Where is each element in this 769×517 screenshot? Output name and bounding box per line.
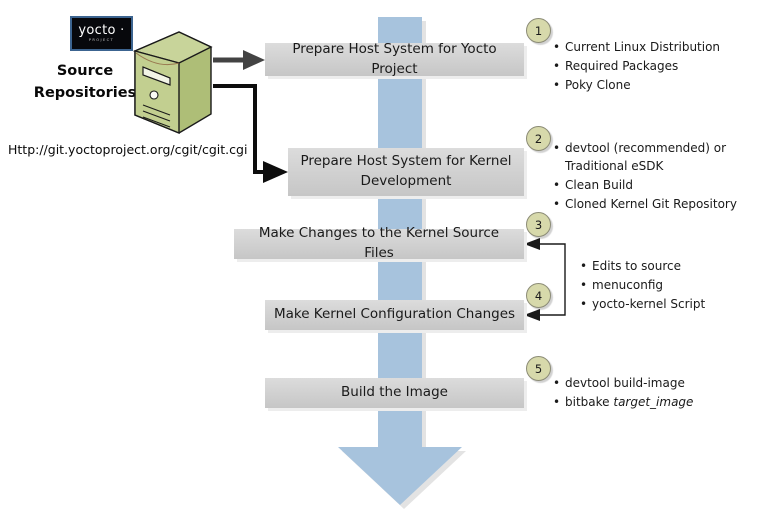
process-box-step-3[interactable]: Make Changes to the Kernel Source Files xyxy=(234,229,524,259)
list-item: devtool build-image xyxy=(553,374,753,392)
list-item: Cloned Kernel Git Repository xyxy=(553,195,765,213)
process-box-step-5[interactable]: Build the Image xyxy=(265,378,524,408)
list-item: yocto-kernel Script xyxy=(580,295,760,313)
list-item: Edits to source xyxy=(580,257,760,275)
list-item: Clean Build xyxy=(553,176,765,194)
step-number-2: 2 xyxy=(526,126,551,151)
step-5-bullet-2-text: bitbake xyxy=(565,395,613,409)
list-item: bitbake target_image xyxy=(553,393,753,411)
list-item: Poky Clone xyxy=(553,76,763,94)
step-5-bullet-2-italic: target_image xyxy=(613,395,693,409)
list-item: Required Packages xyxy=(553,57,763,75)
process-box-step-2[interactable]: Prepare Host System for Kernel Developme… xyxy=(288,148,524,196)
list-item: Current Linux Distribution xyxy=(553,38,763,56)
process-box-step-4[interactable]: Make Kernel Configuration Changes xyxy=(265,300,524,330)
step-number-5: 5 xyxy=(526,356,551,381)
step-number-4: 4 xyxy=(526,283,551,308)
process-box-step-1[interactable]: Prepare Host System for Yocto Project xyxy=(265,43,524,76)
diagram-canvas: yocto · PROJECT Source Repositories Http… xyxy=(0,0,769,517)
list-item: devtool (recommended) or Traditional eSD… xyxy=(553,139,765,175)
steps-3-4-shared-bullets: Edits to source menuconfig yocto-kernel … xyxy=(580,257,760,314)
step-5-bullets: devtool build-image bitbake target_image xyxy=(553,374,753,412)
step-2-bullets: devtool (recommended) or Traditional eSD… xyxy=(553,139,765,214)
step-number-3: 3 xyxy=(526,212,551,237)
step-number-1: 1 xyxy=(526,18,551,43)
step-1-bullets: Current Linux Distribution Required Pack… xyxy=(553,38,763,95)
step-5-bullet-1-text: devtool build-image xyxy=(565,376,685,390)
list-item: menuconfig xyxy=(580,276,760,294)
